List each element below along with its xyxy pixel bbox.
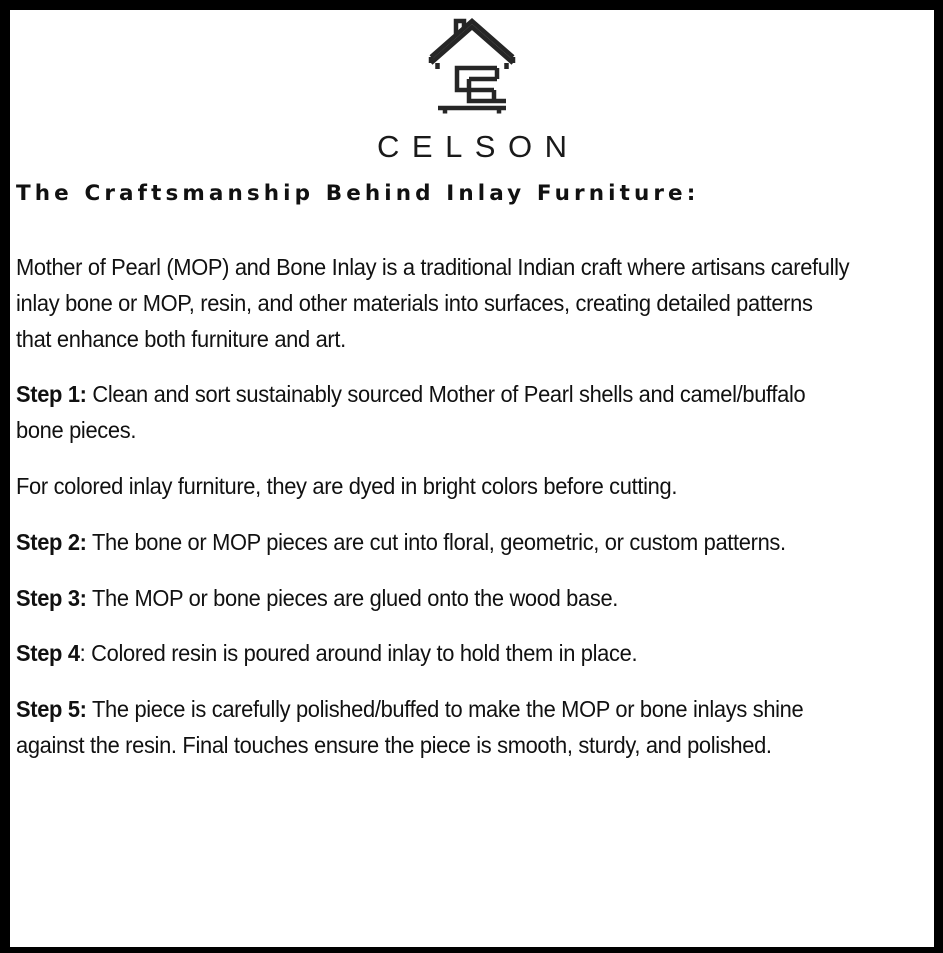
brand-wordmark: CELSON <box>365 131 580 162</box>
paragraph-step-3: Step 3: The MOP or bone pieces are glued… <box>16 581 851 617</box>
paragraph-step-4: Step 4: Colored resin is poured around i… <box>16 636 851 672</box>
brand-header: CELSON <box>10 10 934 162</box>
paragraph-text: Clean and sort sustainably sourced Mothe… <box>16 381 805 443</box>
paragraph-step-5: Step 5: The piece is carefully polished/… <box>16 692 851 764</box>
poster-card: CELSON The Craftsmanship Behind Inlay Fu… <box>0 0 943 953</box>
paragraph-lead: Step 3: <box>16 585 87 611</box>
paragraph-text: The bone or MOP pieces are cut into flor… <box>87 529 786 555</box>
paragraph-lead: Step 4 <box>16 640 80 666</box>
paragraph-dye-note: For colored inlay furniture, they are dy… <box>16 469 851 505</box>
paragraph-text: The MOP or bone pieces are glued onto th… <box>87 585 618 611</box>
paragraph-lead: Step 2: <box>16 529 87 555</box>
paragraph-intro: Mother of Pearl (MOP) and Bone Inlay is … <box>16 250 851 357</box>
paragraph-step-1: Step 1: Clean and sort sustainably sourc… <box>16 377 851 449</box>
article-body: Mother of Pearl (MOP) and Bone Inlay is … <box>16 250 909 764</box>
house-with-s-monogram-icon <box>426 15 518 115</box>
paragraph-text: : Colored resin is poured around inlay t… <box>80 640 638 666</box>
paragraph-text: For colored inlay furniture, they are dy… <box>16 473 677 499</box>
poster-inner: CELSON The Craftsmanship Behind Inlay Fu… <box>10 10 934 947</box>
page-title: The Craftsmanship Behind Inlay Furniture… <box>16 181 699 206</box>
paragraph-lead: Step 5: <box>16 696 87 722</box>
paragraph-lead: Step 1: <box>16 381 87 407</box>
paragraph-text: The piece is carefully polished/buffed t… <box>16 696 803 758</box>
paragraph-step-2: Step 2: The bone or MOP pieces are cut i… <box>16 525 851 561</box>
paragraph-text: Mother of Pearl (MOP) and Bone Inlay is … <box>16 254 849 352</box>
